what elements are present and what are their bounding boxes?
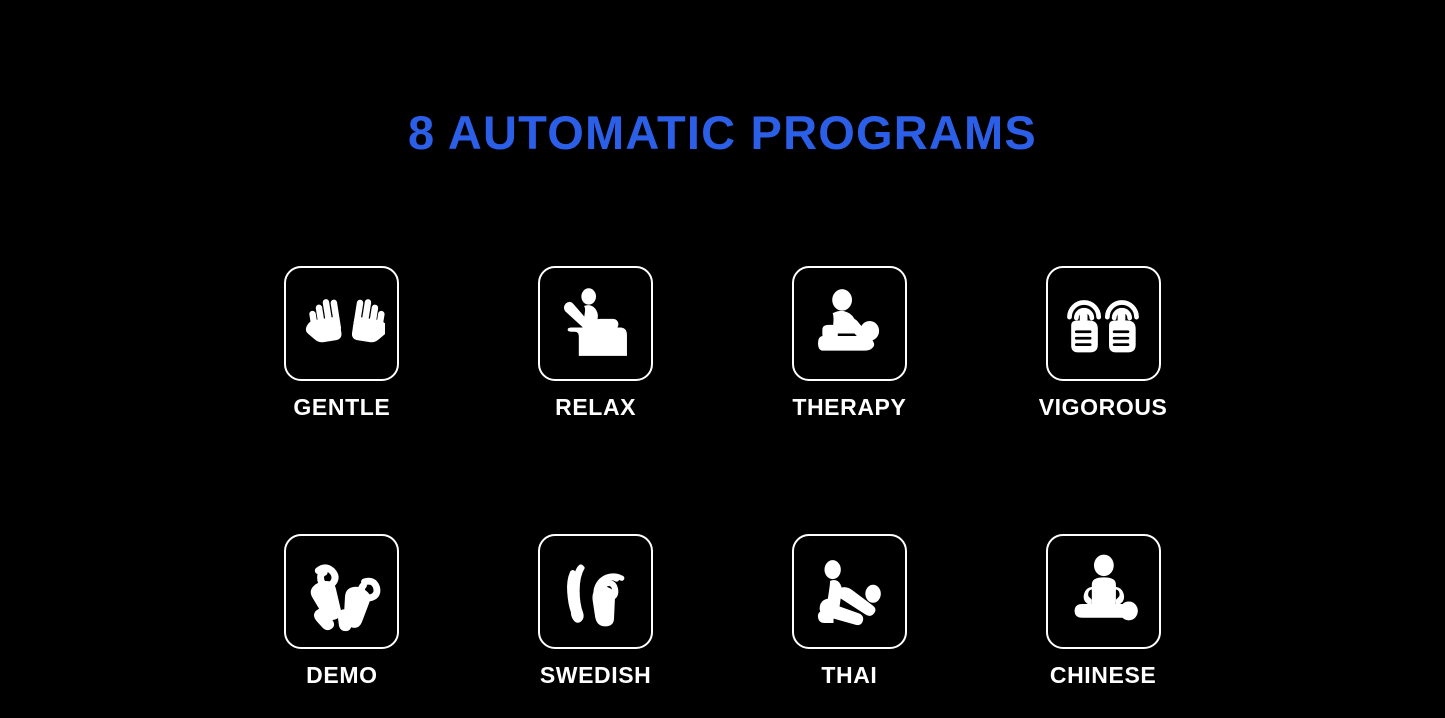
program-tile-swedish[interactable]: SWEDISH: [506, 534, 686, 718]
program-grid: GENTLE RELAX: [215, 266, 1230, 718]
program-selection-screen: 8 AUTOMATIC PROGRAMS: [0, 0, 1445, 718]
program-label: GENTLE: [293, 394, 390, 420]
program-icon-box-therapy[interactable]: [792, 266, 907, 381]
program-icon-box-relax[interactable]: [538, 266, 653, 381]
hand-with-vibration-waves-icon: [553, 549, 639, 635]
therapist-massaging-back-icon: [806, 281, 892, 367]
program-icon-box-vigorous[interactable]: [1046, 266, 1161, 381]
two-percussion-fists-icon: [1060, 281, 1146, 367]
two-kneading-hands-icon: [299, 549, 385, 635]
program-icon-box-thai[interactable]: [792, 534, 907, 649]
program-tile-vigorous[interactable]: VIGOROUS: [1013, 266, 1193, 534]
program-label: THAI: [821, 662, 877, 688]
person-in-recliner-chair-icon: [553, 281, 639, 367]
program-tile-therapy[interactable]: THERAPY: [759, 266, 939, 534]
program-icon-box-gentle[interactable]: [284, 266, 399, 381]
therapist-stretching-leg-icon: [806, 549, 892, 635]
program-label: VIGOROUS: [1039, 394, 1168, 420]
program-tile-relax[interactable]: RELAX: [506, 266, 686, 534]
program-label: THERAPY: [792, 394, 906, 420]
program-icon-box-chinese[interactable]: [1046, 534, 1161, 649]
program-tile-gentle[interactable]: GENTLE: [252, 266, 432, 534]
program-label: RELAX: [555, 394, 636, 420]
program-icon-box-swedish[interactable]: [538, 534, 653, 649]
program-tile-thai[interactable]: THAI: [759, 534, 939, 718]
two-open-palms-icon: [299, 281, 385, 367]
program-label: SWEDISH: [540, 662, 652, 688]
program-tile-chinese[interactable]: CHINESE: [1013, 534, 1193, 718]
program-label: DEMO: [306, 662, 377, 688]
program-tile-demo[interactable]: DEMO: [252, 534, 432, 718]
page-title: 8 AUTOMATIC PROGRAMS: [0, 103, 1445, 163]
therapist-kneeling-over-person-icon: [1060, 549, 1146, 635]
program-icon-box-demo[interactable]: [284, 534, 399, 649]
program-label: CHINESE: [1050, 662, 1156, 688]
